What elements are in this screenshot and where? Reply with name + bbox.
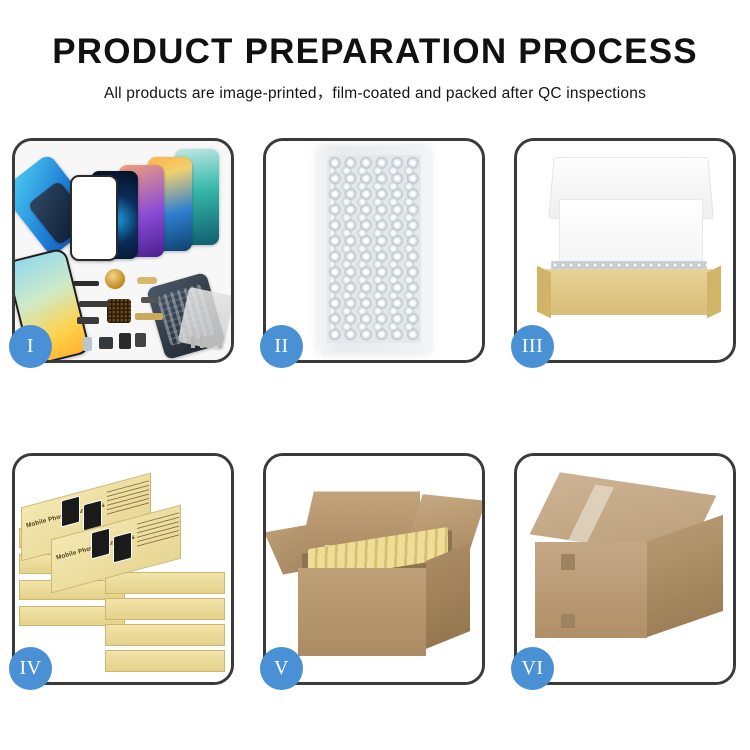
stacked-box-r4 (105, 650, 225, 672)
connector-part (77, 317, 99, 324)
infographic-page: PRODUCT PREPARATION PROCESS All products… (0, 0, 750, 750)
stacked-box-r1 (105, 572, 225, 594)
step-badge-3: III (511, 325, 554, 368)
step-badge-6: VI (511, 647, 554, 690)
stacked-retail-boxes-image: Mobile Phone Spare Parts Mobile Phone Sp… (15, 456, 231, 682)
carton-hand-hole-upper (561, 554, 575, 570)
box-screen-graphic-back-1 (61, 495, 80, 527)
box-screen-graphic-front-1 (91, 527, 110, 559)
step-badge-5: V (260, 647, 303, 690)
stacked-box-r3 (105, 624, 225, 646)
chip-part (107, 299, 131, 323)
sealed-shipping-carton-image (517, 456, 733, 682)
kraft-box-base (545, 269, 713, 315)
speaker-part (73, 281, 99, 286)
carton-front-panel (298, 568, 426, 656)
process-grid: I II III (12, 138, 738, 685)
button-part (135, 333, 146, 347)
phone-white-front-glass (70, 175, 118, 261)
box-screen-graphic-front-2 (113, 531, 132, 563)
page-title: PRODUCT PREPARATION PROCESS (0, 34, 750, 71)
stacked-box-r2 (105, 598, 225, 620)
header: PRODUCT PREPARATION PROCESS All products… (0, 0, 750, 103)
small-black-part (119, 333, 131, 349)
bracket-part (141, 297, 159, 303)
carton-hand-hole-lower (561, 614, 575, 628)
process-panel-2: II (263, 138, 485, 363)
bubble-wrap-image (266, 141, 482, 360)
copper-coil-part (105, 269, 125, 289)
phones-and-spare-parts-image (15, 141, 231, 360)
ribbon-part (79, 301, 109, 307)
camera-module-part (99, 337, 113, 349)
carton-side-panel (426, 543, 470, 649)
process-panel-1: I (12, 138, 234, 363)
sim-tray-part (83, 337, 92, 351)
bubble-grid-offset (331, 163, 417, 335)
step-badge-4: IV (9, 647, 52, 690)
screws-group (191, 336, 225, 348)
process-panel-4: Mobile Phone Spare Parts Mobile Phone Sp… (12, 453, 234, 685)
process-panel-3: III (514, 138, 736, 363)
sealed-carton-front (535, 542, 647, 638)
step-badge-2: II (260, 325, 303, 368)
box-stack: Mobile Phone Spare Parts Mobile Phone Sp… (19, 464, 227, 676)
open-shipping-carton-image (266, 456, 482, 682)
page-subtitle: All products are image-printed，film-coat… (0, 81, 750, 103)
open-inner-box-image (517, 141, 733, 360)
process-panel-6: VI (514, 453, 736, 685)
gold-flex-part (135, 313, 163, 320)
flex-cable-part (137, 277, 157, 284)
process-panel-5: V (263, 453, 485, 685)
step-badge-1: I (9, 325, 52, 368)
